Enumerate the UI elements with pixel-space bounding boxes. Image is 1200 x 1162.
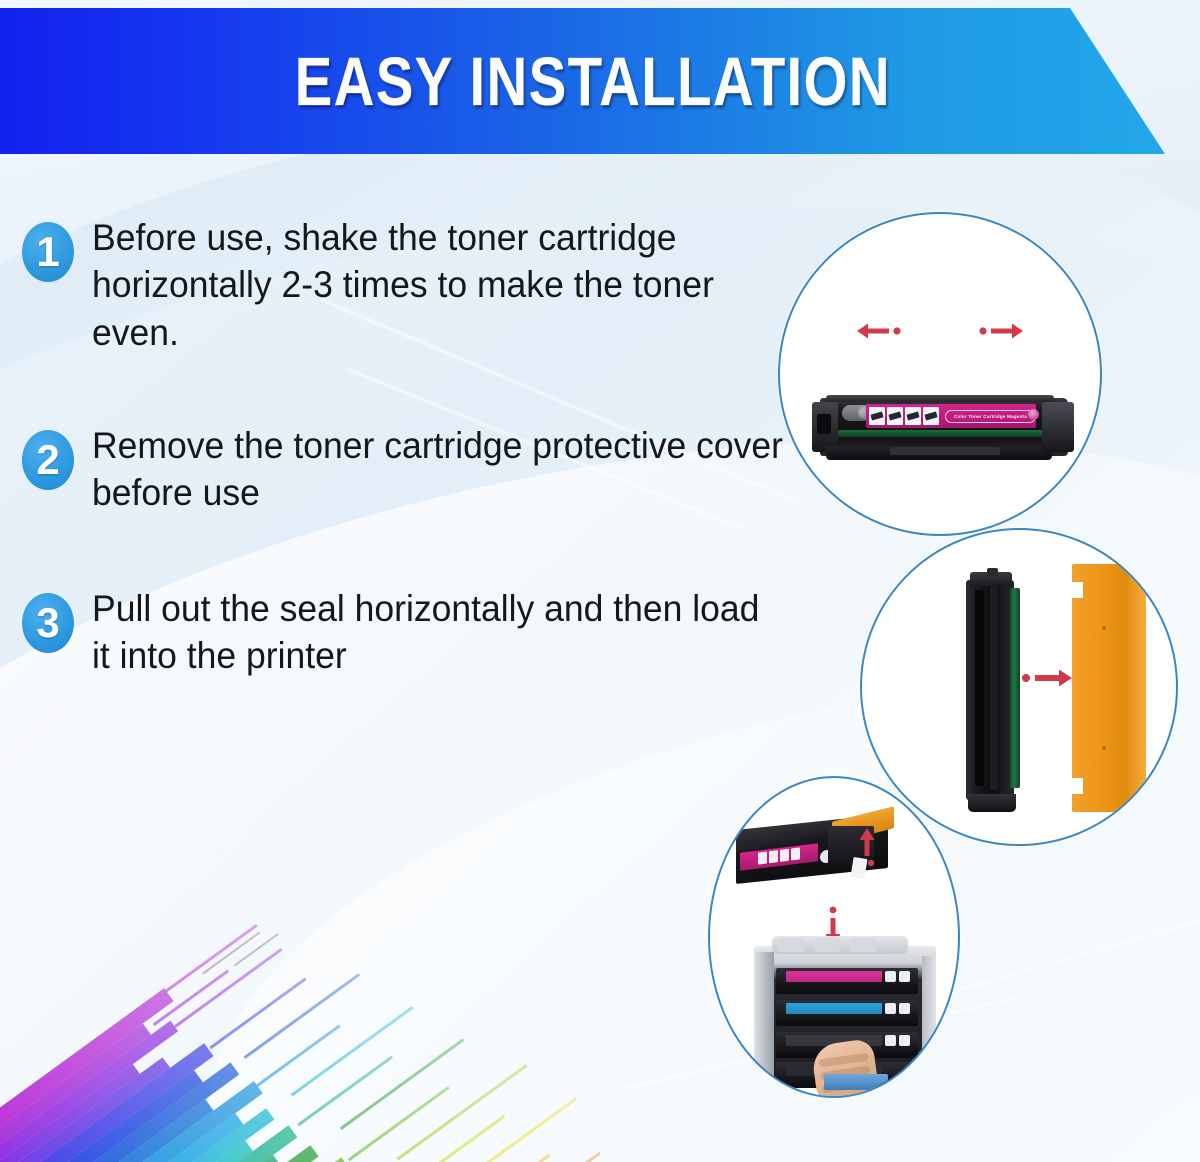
tray-slot-badges	[885, 1035, 910, 1046]
arrow-right-icon	[1022, 668, 1074, 688]
step-text: Pull out the seal horizontally and then …	[92, 585, 783, 680]
step-item: 3 Pull out the seal horizontally and the…	[22, 585, 812, 680]
step-number-badge: 3	[22, 593, 74, 653]
cover-pin-top	[1102, 626, 1106, 630]
cover-notch-bottom	[1071, 778, 1083, 794]
cartridge-label-text: Color Toner Cartridge Magenta	[945, 410, 1036, 423]
printer-rail-left	[754, 952, 774, 1084]
cover-notch-top	[1071, 582, 1083, 598]
step-text: Remove the toner cartridge protective co…	[92, 422, 783, 517]
infographic-page: EASY INSTALLATION 1 Before use, shake th…	[0, 0, 1200, 1162]
shake-arrows	[780, 322, 1100, 340]
printer-blue-panel	[824, 1074, 888, 1090]
cartridge-label: Color Toner Cartridge Magenta	[866, 404, 1036, 428]
printer-rail-right	[922, 956, 936, 1082]
toner-cartridge-magenta: Color Toner Cartridge Magenta	[812, 392, 1074, 460]
drum-unit-bottom-tab	[968, 794, 1016, 812]
printer-lid	[772, 936, 908, 954]
step-item: 1 Before use, shake the toner cartridge …	[22, 214, 812, 356]
cover-pin-bottom	[1102, 746, 1106, 750]
drum-green-edge	[1010, 588, 1020, 788]
page-title: EASY INSTALLATION	[279, 42, 892, 121]
step-number-badge: 2	[22, 430, 74, 490]
rainbow-brush-splash	[0, 770, 600, 1162]
protective-cover	[1072, 564, 1146, 812]
arrow-left-icon	[855, 322, 901, 340]
drum-unit	[966, 572, 1030, 808]
tray-slot-badges	[885, 971, 910, 982]
shake-cartridge-bubble: Color Toner Cartridge Magenta	[778, 212, 1102, 536]
cartridge-base-groove	[890, 447, 1000, 455]
step-number-badge: 1	[22, 222, 74, 282]
printer-tray-assembly	[754, 946, 936, 1086]
cartridge-brand-dot-icon	[1028, 409, 1039, 420]
cover-hole-bottom	[1134, 800, 1140, 806]
drum-unit-top-tab	[970, 572, 1012, 586]
drum-unit-slot	[975, 590, 984, 786]
steps-list: 1 Before use, shake the toner cartridge …	[22, 214, 812, 680]
tray-slot-color-strip	[786, 971, 882, 982]
tray-slot-color-strip	[786, 1003, 882, 1014]
cartridge-top-lip	[826, 395, 1054, 402]
remove-cover-bubble	[860, 528, 1178, 846]
step-text: Before use, shake the toner cartridge ho…	[92, 214, 783, 356]
splash-svg	[0, 770, 600, 1162]
load-printer-bubble	[708, 776, 960, 1098]
step-item: 2 Remove the toner cartridge protective …	[22, 422, 812, 517]
cover-hole-top	[1134, 570, 1140, 576]
arrow-up-icon	[856, 826, 878, 873]
tray-slot	[776, 1000, 918, 1026]
cartridge-left-end	[812, 402, 838, 452]
drum-unit-slot-secondary	[990, 586, 997, 790]
tray-slot	[776, 968, 918, 994]
cartridge-right-end	[1042, 402, 1074, 452]
arrow-right-icon	[979, 322, 1025, 340]
pull-seal-photo	[736, 814, 906, 888]
header-banner: EASY INSTALLATION	[0, 8, 1170, 154]
cartridge-label-icons	[869, 407, 939, 425]
cartridge-drum-strip	[838, 430, 1044, 437]
tray-slot-badges	[885, 1003, 910, 1014]
